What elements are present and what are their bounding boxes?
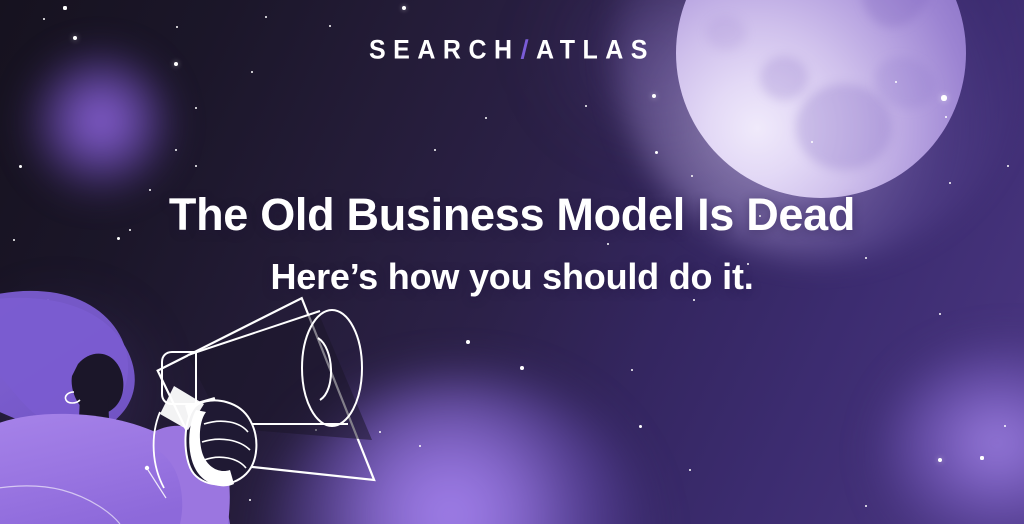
star xyxy=(631,369,634,372)
sleeve xyxy=(160,386,204,430)
megaphone-handle xyxy=(186,398,238,482)
star xyxy=(126,460,129,463)
character-body-outline xyxy=(0,486,120,524)
finger-line xyxy=(202,439,250,450)
megaphone-cone xyxy=(149,291,374,519)
page-subtitle: Here’s how you should do it. xyxy=(0,259,1024,295)
star xyxy=(434,149,437,152)
moon-crater xyxy=(796,84,892,170)
star xyxy=(47,299,50,302)
spark-dot-icon xyxy=(145,466,149,470)
star xyxy=(865,505,867,507)
character-hair-top xyxy=(0,291,128,426)
star xyxy=(175,149,177,151)
glow-orb-top-left xyxy=(22,48,174,200)
star xyxy=(176,26,178,28)
star xyxy=(485,117,487,119)
character-nose-icon xyxy=(65,392,80,403)
moon-crater xyxy=(852,0,943,35)
star xyxy=(419,445,421,447)
star xyxy=(149,189,151,191)
star xyxy=(265,16,268,19)
star xyxy=(195,107,197,109)
star xyxy=(69,499,72,502)
megaphone-group xyxy=(154,310,372,488)
star xyxy=(195,165,197,167)
star xyxy=(3,489,6,492)
megaphone-rear-block xyxy=(162,352,196,404)
star xyxy=(35,419,37,421)
star xyxy=(939,313,941,315)
finger-line xyxy=(204,457,246,468)
star xyxy=(251,71,253,73)
star xyxy=(520,366,524,370)
star xyxy=(693,299,695,301)
star xyxy=(402,6,406,10)
character-arm xyxy=(150,426,230,524)
star xyxy=(128,378,131,381)
finger-line xyxy=(204,421,248,432)
star xyxy=(1004,425,1006,427)
character-face xyxy=(72,354,124,415)
moon xyxy=(676,0,966,198)
star xyxy=(941,95,946,100)
arm-outline xyxy=(154,412,164,488)
hand-thumb xyxy=(189,410,234,486)
star xyxy=(639,425,642,428)
headline-block: The Old Business Model Is Dead Here’s ho… xyxy=(0,192,1024,295)
star xyxy=(43,18,46,21)
megaphone-top-line xyxy=(188,311,320,355)
glow-orb-left-mid xyxy=(0,300,160,480)
brand-logo-text: SEARCH/ATLAS xyxy=(369,35,655,66)
star xyxy=(315,429,317,431)
megaphone-sound-arc-icon xyxy=(318,338,331,400)
star xyxy=(689,469,691,471)
logo-word-search: SEARCH xyxy=(369,35,520,65)
star xyxy=(655,151,658,154)
star xyxy=(19,165,22,168)
character-neck xyxy=(78,396,110,442)
star xyxy=(980,456,983,459)
megaphone-body xyxy=(188,312,372,440)
star xyxy=(63,6,66,9)
star xyxy=(249,499,251,501)
star xyxy=(938,458,943,463)
star xyxy=(1007,165,1009,167)
star xyxy=(466,340,470,344)
character-hair xyxy=(0,298,135,435)
megaphone-mouth xyxy=(302,310,362,426)
star xyxy=(585,105,587,107)
spark-line-icon xyxy=(148,470,166,498)
logo-slash-icon: / xyxy=(519,35,537,66)
logo-word-atlas: ATLAS xyxy=(536,35,655,65)
page-title: The Old Business Model Is Dead xyxy=(0,192,1024,237)
star xyxy=(379,431,382,434)
star xyxy=(329,25,331,27)
glow-orb-bottom-right xyxy=(880,344,1024,524)
hand-fist xyxy=(185,401,256,485)
glow-orb-bottom-center xyxy=(268,376,648,524)
character-body xyxy=(0,414,230,524)
hero-banner: SEARCH/ATLAS The Old Business Model Is D… xyxy=(0,0,1024,524)
brand-logo: SEARCH/ATLAS xyxy=(0,36,1024,65)
star xyxy=(171,507,174,510)
